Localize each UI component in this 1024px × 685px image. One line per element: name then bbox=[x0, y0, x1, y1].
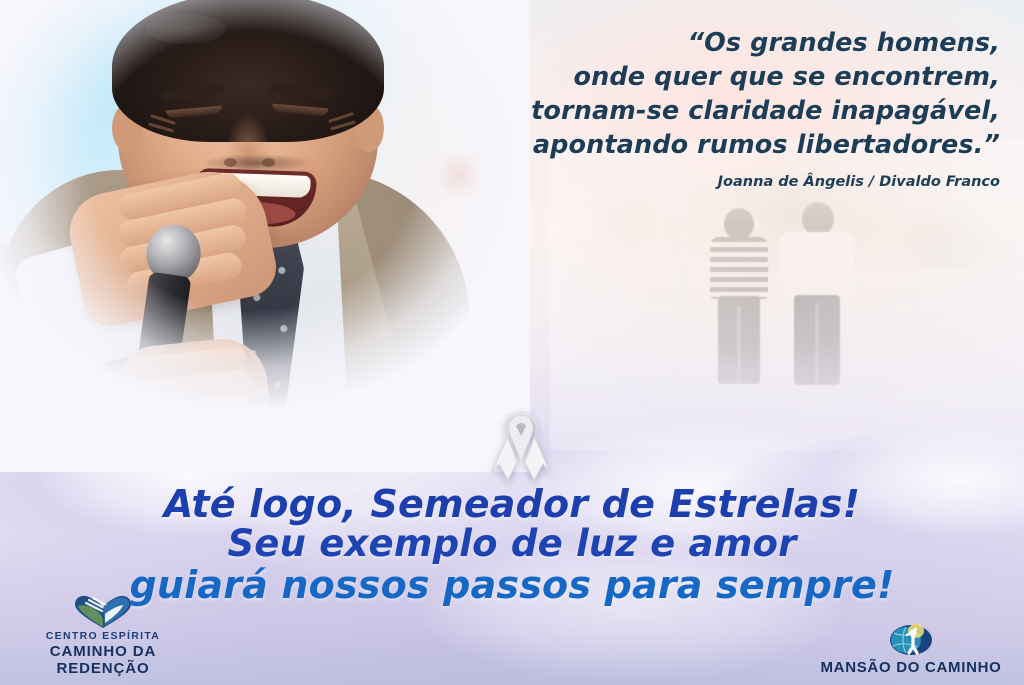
portrait-hand-holding-microphone bbox=[113, 334, 273, 449]
logo-left-line-2: CAMINHO DA REDENÇÃO bbox=[8, 643, 198, 677]
quote-block: “Os grandes homens, onde quer que se enc… bbox=[380, 26, 1000, 190]
headline-line-2: Seu exemplo de luz e amor bbox=[0, 524, 1024, 564]
quote-line-3: tornam-se claridade inapagável, bbox=[380, 94, 1000, 128]
quote-attribution: Joanna de Ângelis / Divaldo Franco bbox=[380, 174, 1000, 190]
logo-right-line-1: MANSÃO DO CAMINHO bbox=[806, 659, 1016, 677]
globe-with-torch-bearer-icon bbox=[806, 620, 1016, 656]
logo-centro-espirita: CENTRO ESPÍRITA CAMINHO DA REDENÇÃO bbox=[8, 594, 198, 677]
logo-mansao-do-caminho: MANSÃO DO CAMINHO bbox=[806, 620, 1016, 677]
logo-left-line-1: CENTRO ESPÍRITA bbox=[8, 630, 198, 643]
hands-forming-heart-icon bbox=[8, 594, 198, 630]
mourning-ribbon-icon bbox=[486, 408, 556, 486]
headline-block: Até logo, Semeador de Estrelas! Seu exem… bbox=[0, 484, 1024, 606]
quote-line-2: onde quer que se encontrem, bbox=[380, 60, 1000, 94]
headline-line-1: Até logo, Semeador de Estrelas! bbox=[0, 484, 1024, 524]
quote-line-1: “Os grandes homens, bbox=[380, 26, 1000, 60]
background-photo bbox=[560, 150, 1024, 440]
memorial-poster: “Os grandes homens, onde quer que se enc… bbox=[0, 0, 1024, 685]
quote-line-4: apontando rumos libertadores.” bbox=[380, 128, 1000, 162]
